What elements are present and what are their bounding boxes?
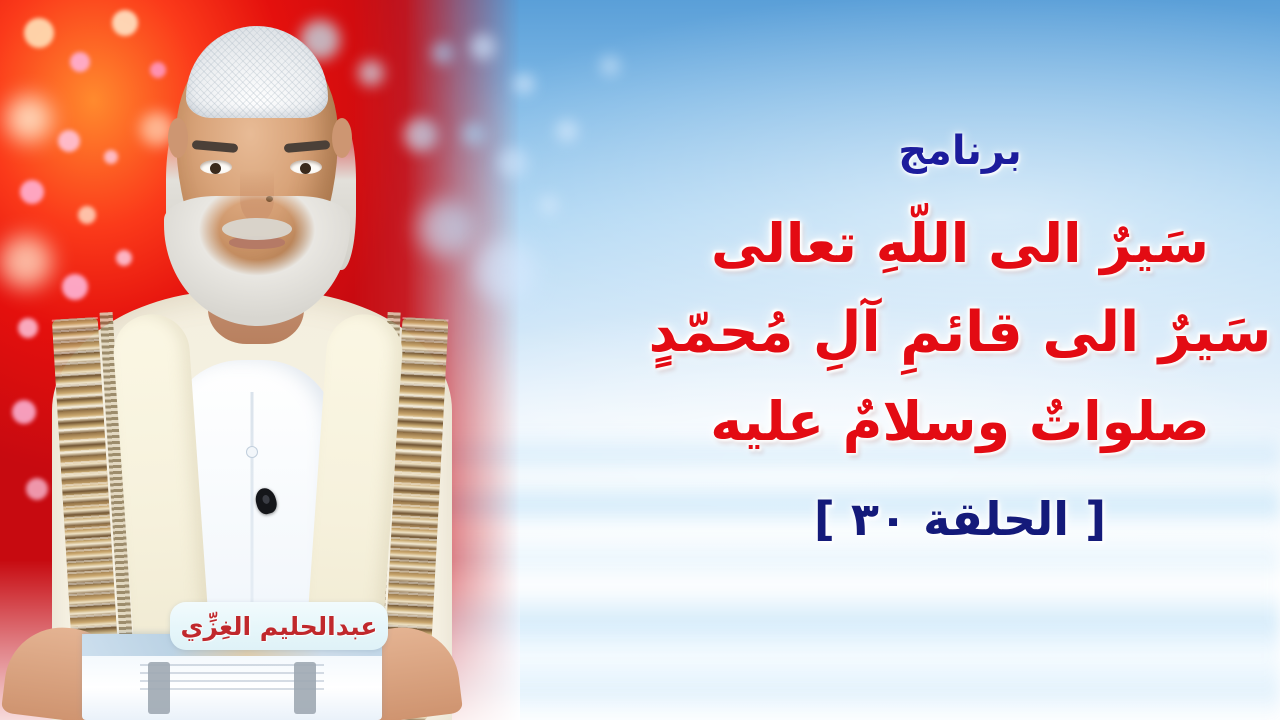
presenter-name-text: عبدالحليم الغِزِّي xyxy=(181,612,378,641)
title-text-block: برنامج سَيرٌ الى اللّهِ تعالى سَيرٌ الى … xyxy=(640,0,1280,620)
thobe-button xyxy=(246,446,258,458)
headline-line-1-text: سَيرٌ الى اللّهِ تعالى xyxy=(640,212,1280,275)
headline-line-3: صلواتٌ وسلامٌ عليه xyxy=(640,390,1280,453)
eye xyxy=(290,160,322,174)
headline-line-3-text: صلواتٌ وسلامٌ عليه xyxy=(640,390,1280,453)
title-card-stage: عبدالحليم الغِزِّي برنامج سَيرٌ الى اللّ… xyxy=(0,0,1280,720)
program-kicker-label: برنامج xyxy=(640,128,1280,174)
book-clip xyxy=(148,662,170,714)
episode-number-label: [ الحلقة ٣٠ ] xyxy=(640,492,1280,546)
presenter-name-banner: عبدالحليم الغِزِّي xyxy=(170,602,388,650)
headline-line-2: سَيرٌ الى قائمِ آلِ مُحمّدٍ xyxy=(640,300,1280,365)
headline-line-1: سَيرٌ الى اللّهِ تعالى xyxy=(640,212,1280,275)
ear xyxy=(168,118,188,158)
pupil xyxy=(300,163,311,174)
ear xyxy=(332,118,352,158)
presenter-kufi-cap xyxy=(186,26,328,118)
pupil xyxy=(210,163,221,174)
headline-line-2-text: سَيرٌ الى قائمِ آلِ مُحمّدٍ xyxy=(640,300,1280,365)
eye xyxy=(200,160,232,174)
book-clip xyxy=(294,662,316,714)
